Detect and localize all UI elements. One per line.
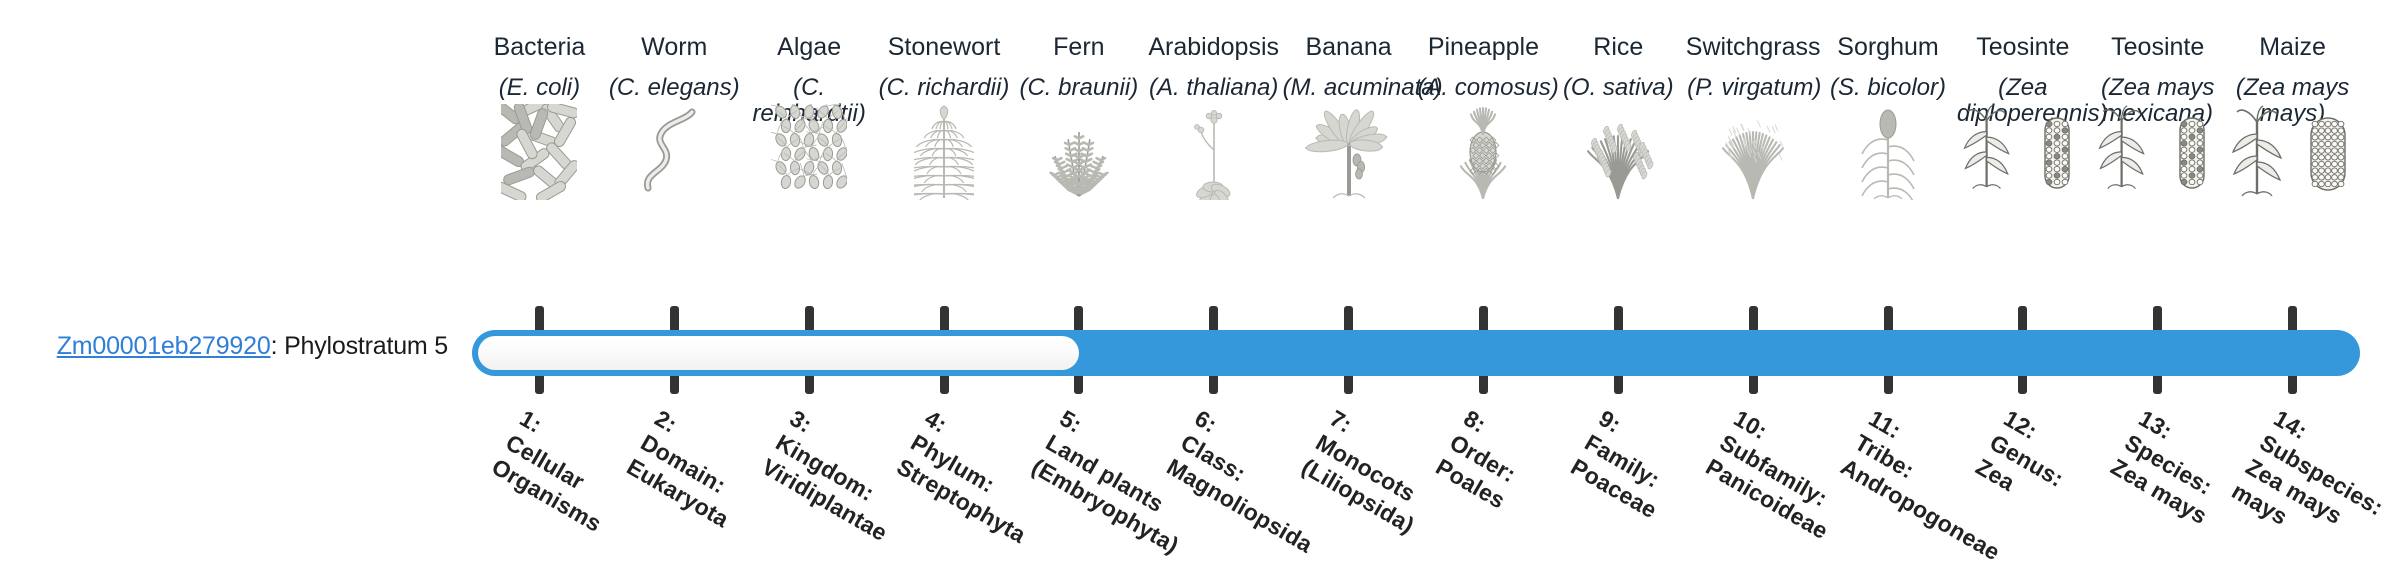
species-column-arabidopsis-6: Arabidopsis(A. thaliana) xyxy=(1147,0,1281,101)
species-column-teosinte-12: Teosinte(Zea diploperennis) xyxy=(1956,0,2090,127)
species-latin-name: (M. acuminata) xyxy=(1283,75,1415,101)
gene-id-link[interactable]: Zm00001eb279920 xyxy=(57,332,271,360)
rice-illustration xyxy=(1552,108,1684,200)
species-latin-name: (C. braunii) xyxy=(1019,75,1138,101)
phylostratum-progress-bar[interactable] xyxy=(472,330,2360,376)
species-column-pineapple-8: Pineapple(A. comosus) xyxy=(1416,0,1550,101)
species-common-name: Bacteria xyxy=(494,34,586,61)
species-latin-name: (E. coli) xyxy=(499,75,580,101)
species-column-rice-9: Rice(O. sativa) xyxy=(1551,0,1685,101)
rank-label-2: 2: Domain: Eukaryota xyxy=(622,404,762,533)
species-common-name: Worm xyxy=(641,34,707,61)
rank-label-8: 8: Order: Poales xyxy=(1431,404,1538,515)
banana-illustration xyxy=(1283,108,1415,200)
fern-illustration xyxy=(1013,108,1145,200)
species-common-name: Algae xyxy=(777,34,841,61)
pineapple-illustration xyxy=(1417,108,1549,200)
bacteria-illustration xyxy=(473,108,605,200)
rank-label-9: 9: Family: Poaceae xyxy=(1566,404,1690,524)
phylostratum-value: Phylostratum 5 xyxy=(284,332,448,360)
worm-illustration xyxy=(608,108,740,200)
species-common-name: Fern xyxy=(1053,34,1104,61)
species-common-name: Teosinte xyxy=(1976,34,2069,61)
species-column-fern-5: Fern(C. braunii) xyxy=(1012,0,1146,101)
species-latin-name: (O. sativa) xyxy=(1563,75,1674,101)
sorghum-illustration xyxy=(1822,108,1954,200)
species-common-name: Stonewort xyxy=(888,34,1001,61)
species-latin-name: (C. richardii) xyxy=(879,75,1010,101)
species-latin-name: (A. thaliana) xyxy=(1149,75,1278,101)
species-common-name: Pineapple xyxy=(1428,34,1539,61)
species-column-maize-14: Maize(Zea mays mays) xyxy=(2226,0,2360,127)
species-column-banana-7: Banana(M. acuminata) xyxy=(1282,0,1416,101)
species-column-bacteria-1: Bacteria(E. coli) xyxy=(472,0,606,101)
label-separator: : xyxy=(271,332,285,360)
species-latin-name: (C. elegans) xyxy=(609,75,740,101)
species-column-teosinte-13: Teosinte(Zea mays mexicana) xyxy=(2091,0,2225,127)
species-common-name: Banana xyxy=(1305,34,1391,61)
species-column-stonewort-4: Stonewort(C. richardii) xyxy=(877,0,1011,101)
progress-track-unfilled xyxy=(478,336,1079,370)
phylostratum-timeline: Zm00001eb279920: Phylostratum 5 Bacteria… xyxy=(0,0,2400,580)
species-column-switchgrass-10: Switchgrass(P. virgatum) xyxy=(1686,0,1820,101)
species-common-name: Sorghum xyxy=(1837,34,1938,61)
rank-label-14: 14: Subspecies: Zea mays mays xyxy=(2226,404,2400,570)
species-common-name: Teosinte xyxy=(2111,34,2204,61)
species-column-algae-3: Algae(C. reinhardtii) xyxy=(742,0,876,127)
maize-illustration xyxy=(2227,108,2359,200)
species-columns: Bacteria(E. coli)Worm(C. elegans)Algae(C… xyxy=(472,0,2360,300)
species-latin-name: (P. virgatum) xyxy=(1687,75,1819,101)
species-latin-name: (A. comosus) xyxy=(1417,75,1549,101)
algae-illustration xyxy=(743,108,875,200)
rank-label-13: 13: Species: Zea mays xyxy=(2106,404,2240,530)
species-column-worm-2: Worm(C. elegans) xyxy=(607,0,741,101)
species-common-name: Arabidopsis xyxy=(1148,34,1279,61)
species-latin-name: (S. bicolor) xyxy=(1830,75,1946,101)
species-common-name: Switchgrass xyxy=(1686,34,1821,61)
teosinte-illustration xyxy=(2092,108,2224,200)
gene-phylostratum-label: Zm00001eb279920: Phylostratum 5 xyxy=(0,332,460,361)
rank-label-1: 1: Cellular Organisms xyxy=(487,404,635,538)
teosinte-illustration xyxy=(1957,108,2089,200)
species-column-sorghum-11: Sorghum(S. bicolor) xyxy=(1821,0,1955,101)
species-common-name: Maize xyxy=(2259,34,2326,61)
arabidopsis-illustration xyxy=(1148,108,1280,200)
stonewort-illustration xyxy=(878,108,1010,200)
species-common-name: Rice xyxy=(1593,34,1643,61)
switchgrass-illustration xyxy=(1687,108,1819,200)
